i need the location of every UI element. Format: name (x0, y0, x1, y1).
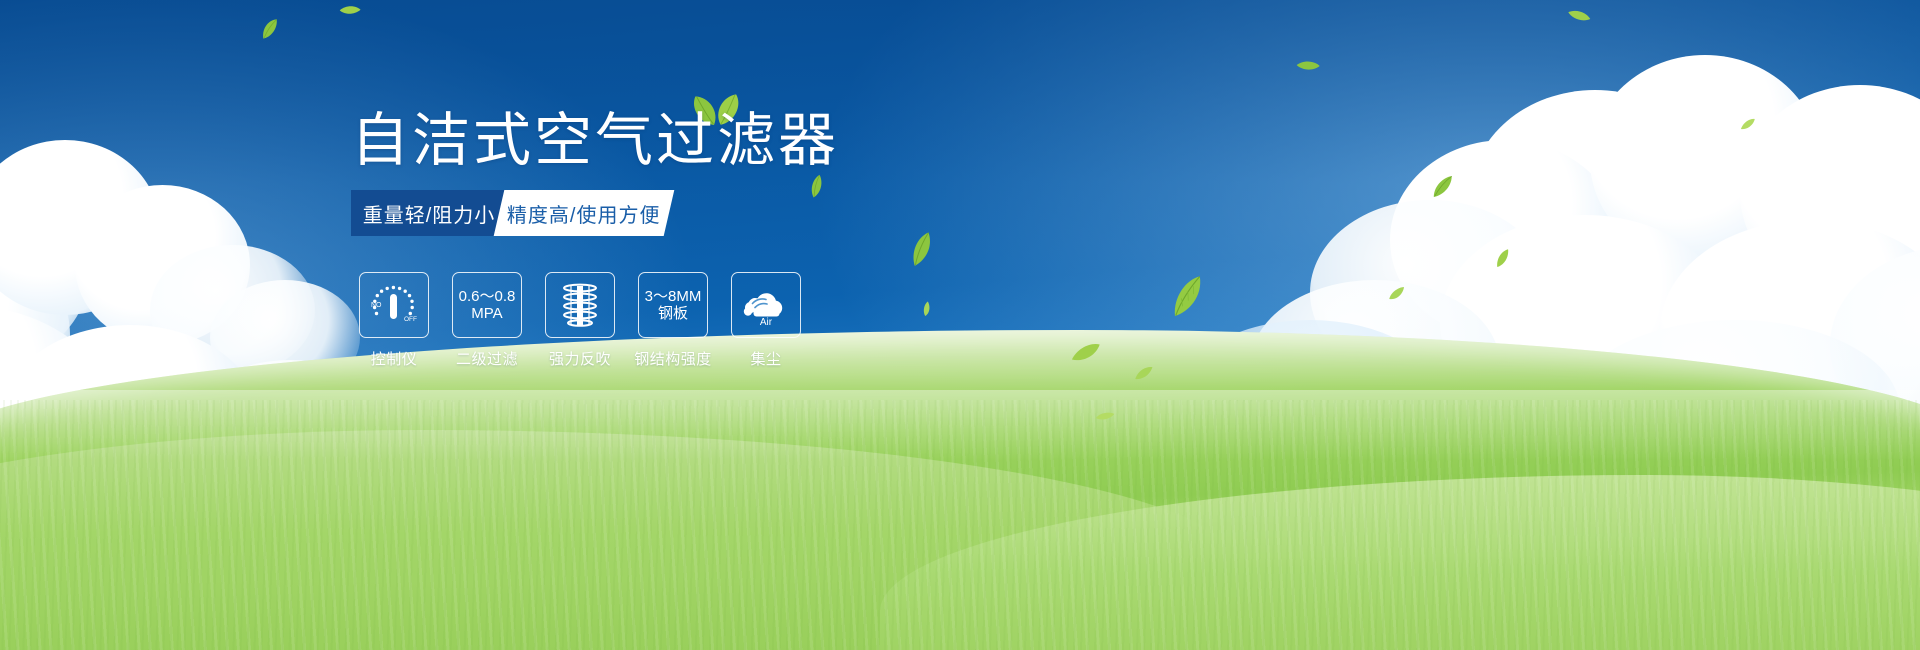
steel-plate-icon: 3～8MM 钢板 (638, 272, 708, 338)
badge-row: 重量轻/阻力小 精度高/使用方便 (351, 190, 669, 236)
feature-row: NO OFF 控制仪 0.6～0.8 MPA 二级过滤 (359, 272, 801, 369)
feature-item-steel-strength[interactable]: 3～8MM 钢板 钢结构强度 (638, 272, 708, 369)
svg-text:Air: Air (760, 317, 773, 328)
page-title: 自洁式空气过滤器 (351, 112, 839, 170)
gauge-icon: NO OFF (359, 272, 429, 338)
cloud-air-icon: Air (731, 272, 801, 338)
pressure-unit: MPA (459, 305, 516, 322)
feature-label-dust-collection: 集尘 (750, 348, 781, 369)
feature-label-filtration: 二级过滤 (456, 348, 518, 369)
svg-text:OFF: OFF (404, 316, 417, 323)
feature-item-controller[interactable]: NO OFF 控制仪 (359, 272, 429, 369)
badge-precision-convenience-label: 精度高/使用方便 (507, 199, 661, 228)
svg-text:NO: NO (371, 302, 382, 309)
feature-item-filtration[interactable]: 0.6～0.8 MPA 二级过滤 (452, 272, 522, 369)
steel-material: 钢板 (645, 305, 702, 322)
pressure-value: 0.6～0.8 (459, 288, 516, 305)
feature-label-blowback: 强力反吹 (549, 348, 611, 369)
badge-weight-resistance[interactable]: 重量轻/阻力小 (351, 190, 509, 236)
feature-label-steel-strength: 钢结构强度 (634, 348, 712, 369)
feature-label-controller: 控制仪 (371, 348, 418, 369)
badge-precision-convenience[interactable]: 精度高/使用方便 (494, 190, 675, 236)
banner-content: 自洁式空气过滤器 重量轻/阻力小 精度高/使用方便 (0, 0, 1920, 650)
steel-thickness: 3～8MM (645, 288, 702, 305)
title-block: 自洁式空气过滤器 (351, 112, 839, 170)
promo-banner: 自洁式空气过滤器 重量轻/阻力小 精度高/使用方便 (0, 0, 1920, 650)
feature-item-dust-collection[interactable]: Air 集尘 (731, 272, 801, 369)
feature-item-blowback[interactable]: 强力反吹 (545, 272, 615, 369)
filter-cartridge-icon (545, 272, 615, 338)
pressure-icon: 0.6～0.8 MPA (452, 272, 522, 338)
